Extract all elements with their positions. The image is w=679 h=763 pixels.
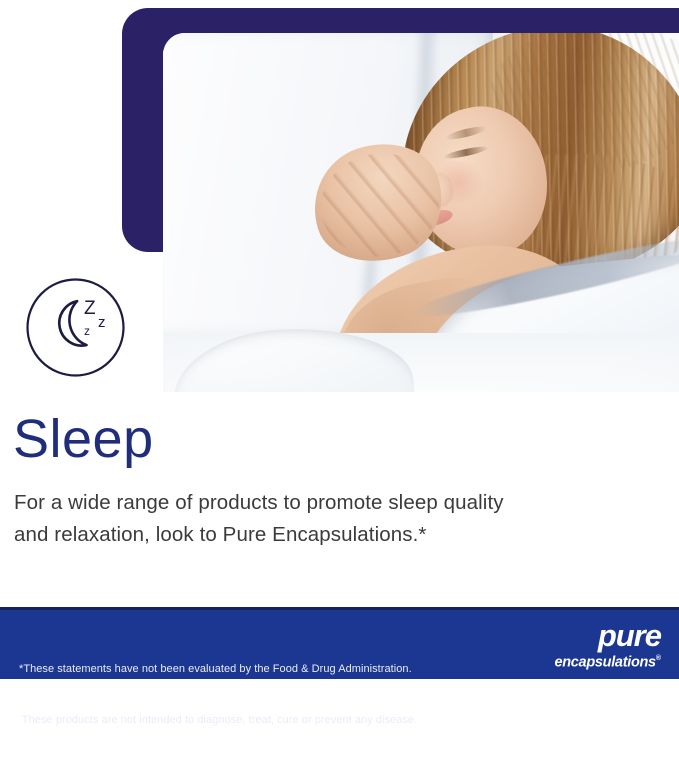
crescent-moon-icon — [55, 301, 86, 350]
fda-disclaimer-line-2: These products are not intended to diagn… — [19, 712, 417, 729]
pure-encapsulations-logo: pure encapsulations® — [511, 621, 661, 671]
logo-wordmark-encapsulations: encapsulations — [554, 654, 655, 670]
icon-outer-circle — [28, 280, 124, 376]
logo-subtext-wrap: encapsulations® — [511, 651, 661, 670]
zzz-letter-large: Z — [84, 298, 96, 319]
footer-bar: *These statements have not been evaluate… — [0, 607, 679, 679]
page-title: Sleep — [13, 412, 154, 466]
fda-disclaimer: *These statements have not been evaluate… — [19, 627, 417, 763]
body-copy: For a wide range of products to promote … — [14, 487, 654, 551]
sleep-hero-photo — [163, 33, 679, 392]
zzz-letter-medium: z — [98, 314, 106, 331]
registered-trademark-icon: ® — [656, 655, 661, 662]
photo-vignette — [163, 33, 679, 392]
body-copy-line-2: and relaxation, look to Pure Encapsulati… — [14, 519, 654, 551]
sleep-moon-zzz-icon: Z z z — [25, 277, 126, 378]
fda-disclaimer-line-1: *These statements have not been evaluate… — [19, 661, 417, 678]
logo-wordmark-pure: pure — [511, 621, 661, 651]
zzz-letter-small: z — [84, 324, 90, 338]
body-copy-line-1: For a wide range of products to promote … — [14, 487, 654, 519]
